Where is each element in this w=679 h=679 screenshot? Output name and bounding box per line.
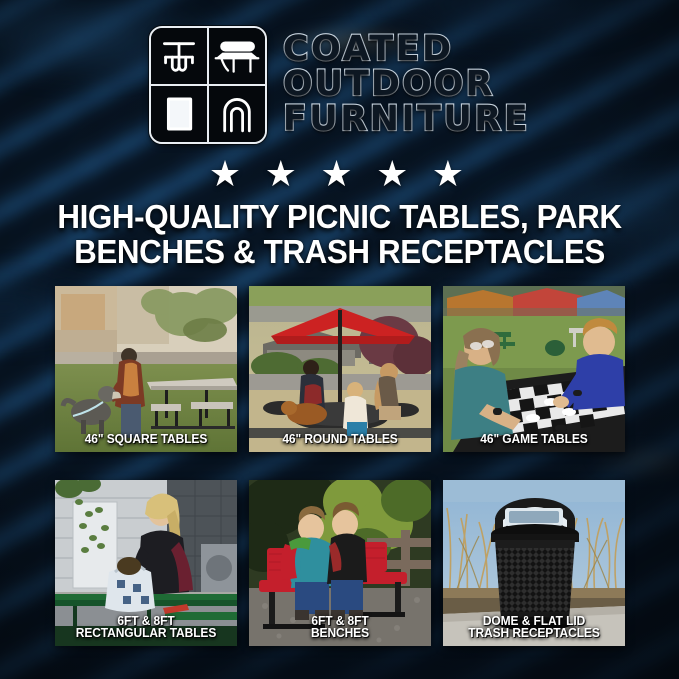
scene-square-tables <box>55 286 237 452</box>
logo-icon-grid <box>149 26 267 144</box>
product-caption: 6FT & 8FT RECTANGULAR TABLES <box>62 615 229 641</box>
wordmark-line-3: FURNITURE <box>283 103 530 137</box>
brand-wordmark: COATED OUTDOOR FURNITURE <box>283 33 530 137</box>
product-caption: DOME & FLAT LID TRASH RECEPTACLES <box>450 615 617 641</box>
brand-logo: COATED OUTDOOR FURNITURE <box>0 26 679 144</box>
caption-line-2: RECTANGULAR TABLES <box>62 627 229 640</box>
product-caption: 46" SQUARE TABLES <box>62 433 229 446</box>
product-tile-round-tables[interactable]: 46" ROUND TABLES <box>249 286 431 452</box>
page-title: HIGH-QUALITY PICNIC TABLES, PARK BENCHES… <box>44 200 636 268</box>
headline-line-2: BENCHES & TRASH RECEPTACLES <box>44 235 636 268</box>
trash-receptacle-icon <box>151 85 208 142</box>
product-caption: 46" ROUND TABLES <box>256 433 423 446</box>
caption-line-2: BENCHES <box>256 627 423 640</box>
wordmark-line-2: OUTDOOR <box>283 68 530 102</box>
bike-rack-icon <box>208 85 265 142</box>
picnic-table-icon <box>151 28 208 85</box>
headline-line-1: HIGH-QUALITY PICNIC TABLES, PARK <box>57 198 621 235</box>
wordmark-line-1: COATED <box>283 33 530 67</box>
product-tile-square-tables[interactable]: 46" SQUARE TABLES <box>55 286 237 452</box>
caption-line-1: 6FT & 8FT <box>311 614 368 628</box>
product-caption: 6FT & 8FT BENCHES <box>256 615 423 641</box>
product-caption: 46" GAME TABLES <box>450 433 617 446</box>
caption-line-1: 46" SQUARE TABLES <box>85 432 208 446</box>
caption-line-1: 46" GAME TABLES <box>480 432 587 446</box>
caption-line-1: 46" ROUND TABLES <box>282 432 397 446</box>
product-tile-benches[interactable]: 6FT & 8FT BENCHES <box>249 480 431 646</box>
scene-game-tables <box>443 286 625 452</box>
star-rating: ★ ★ ★ ★ ★ <box>0 157 679 193</box>
product-tile-rectangular-tables[interactable]: 6FT & 8FT RECTANGULAR TABLES <box>55 480 237 646</box>
ad-banner: COATED OUTDOOR FURNITURE ★ ★ ★ ★ ★ HIGH-… <box>0 0 679 679</box>
park-bench-icon <box>208 28 265 85</box>
caption-line-1: 6FT & 8FT <box>117 614 174 628</box>
product-tile-game-tables[interactable]: 46" GAME TABLES <box>443 286 625 452</box>
caption-line-1: DOME & FLAT LID <box>483 614 585 628</box>
scene-round-tables <box>249 286 431 452</box>
caption-line-2: TRASH RECEPTACLES <box>450 627 617 640</box>
product-grid: 46" SQUARE TABLES <box>55 286 625 646</box>
product-tile-trash-receptacles[interactable]: DOME & FLAT LID TRASH RECEPTACLES <box>443 480 625 646</box>
